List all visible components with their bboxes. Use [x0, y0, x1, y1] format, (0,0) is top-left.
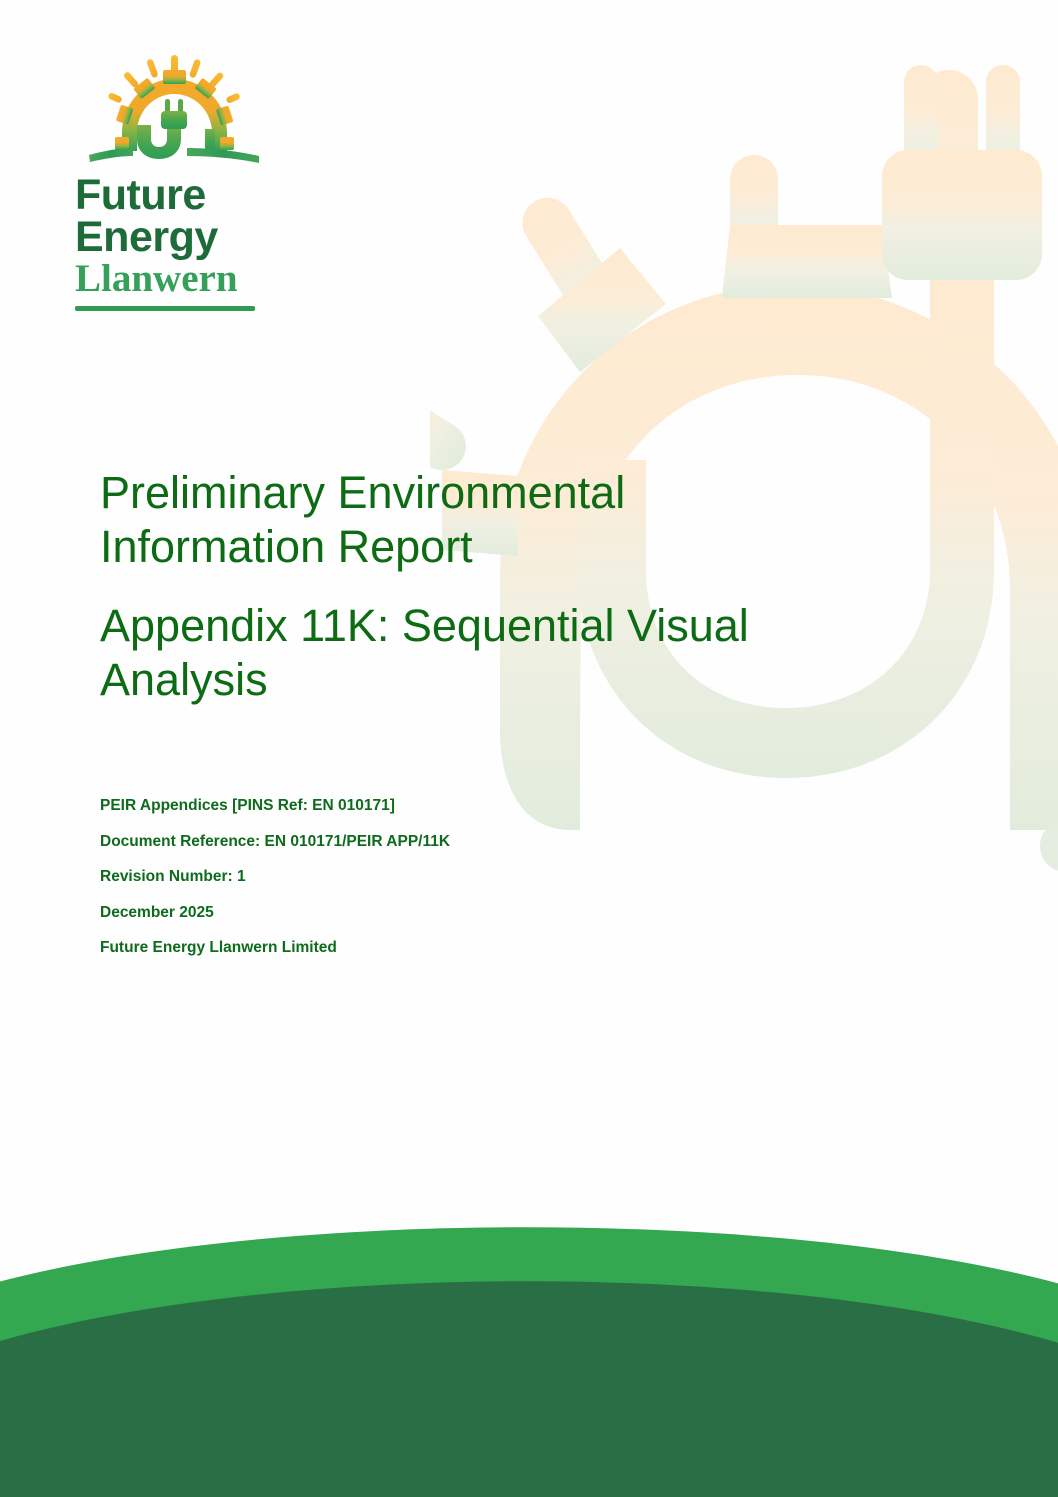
metadata-line-date: December 2025: [100, 905, 450, 921]
metadata-line-peir-appendices: PEIR Appendices [PINS Ref: EN 010171]: [100, 798, 450, 814]
document-subtitle-group: Appendix 11K: Sequential Visual Analysis: [100, 599, 900, 708]
future-energy-gear-plug-sun-icon: [87, 55, 262, 175]
page-title: Preliminary Environmental Information Re…: [100, 466, 900, 708]
document-subtitle-line-2: Analysis: [100, 653, 900, 707]
document-title-line-2: Information Report: [100, 520, 900, 574]
metadata-line-revision-number: Revision Number: 1: [100, 869, 450, 885]
document-subtitle-line-1: Appendix 11K: Sequential Visual: [100, 599, 900, 653]
logo-text-future: Future: [75, 175, 270, 217]
watermark-horizon-lines: [1040, 820, 1058, 872]
logo-text-energy: Energy: [75, 217, 270, 259]
logo-underline-rule: [75, 306, 255, 311]
footer-decorative-curves: [0, 1197, 1058, 1497]
metadata-line-company: Future Energy Llanwern Limited: [100, 940, 450, 956]
document-metadata: PEIR Appendices [PINS Ref: EN 010171] Do…: [100, 798, 450, 956]
metadata-line-document-reference: Document Reference: EN 010171/PEIR APP/1…: [100, 834, 450, 850]
document-title-line-1: Preliminary Environmental: [100, 466, 900, 520]
document-title-group: Preliminary Environmental Information Re…: [100, 466, 900, 575]
footer-curve-dark: [0, 1281, 1058, 1497]
brand-logo: Future Energy Llanwern: [75, 55, 270, 311]
logo-text-llanwern: Llanwern: [75, 259, 270, 300]
watermark-sun-rays: [430, 70, 1058, 479]
